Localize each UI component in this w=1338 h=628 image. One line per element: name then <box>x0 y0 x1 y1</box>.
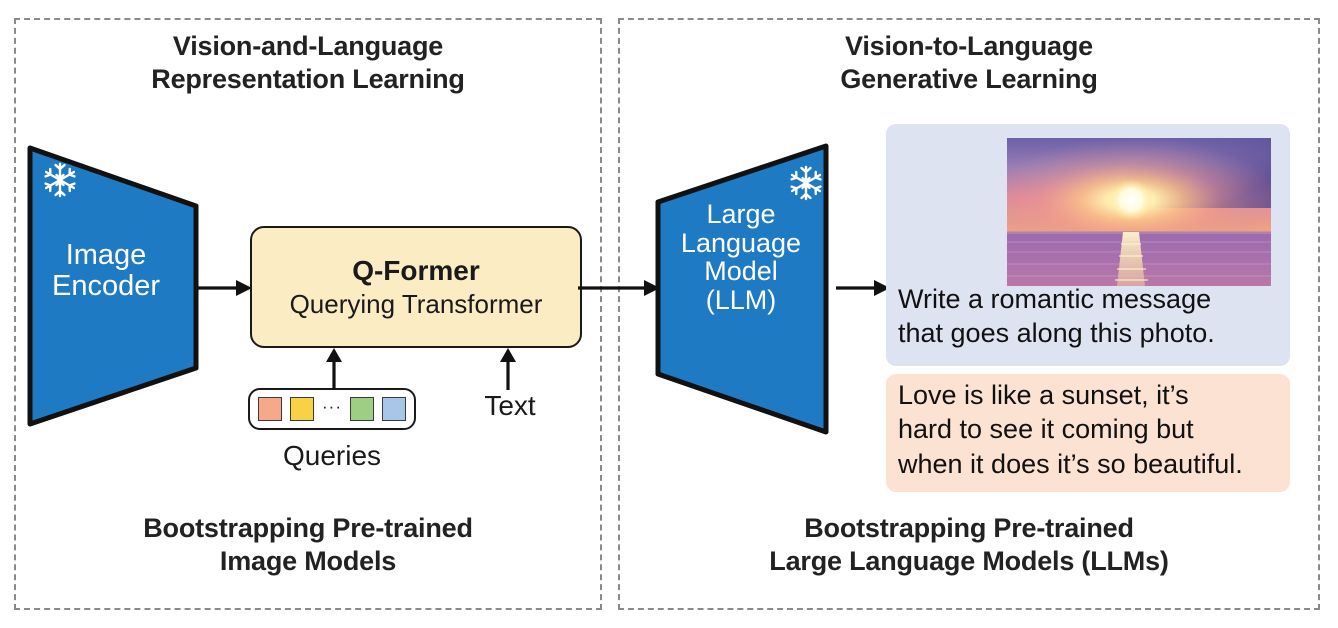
arrow-image-encoder-to-qformer <box>198 276 254 300</box>
queries-label: Queries <box>248 440 416 472</box>
query-chip-salmon <box>258 397 282 421</box>
text-input-label: Text <box>460 390 560 422</box>
qformer-block: Q-Former Querying Transformer <box>250 226 582 348</box>
query-chip-yellow <box>290 397 314 421</box>
qformer-subtitle: Querying Transformer <box>290 289 543 320</box>
arrow-text-to-qformer <box>496 348 520 390</box>
answer-text: Love is like a sunset, it’s hard to see … <box>898 378 1290 481</box>
arrow-queries-to-qformer <box>322 348 346 390</box>
sunset-over-ocean-photo <box>1007 138 1271 286</box>
llm-label: Large Language Model (LLM) <box>652 200 830 314</box>
query-ellipsis: ··· <box>322 398 342 415</box>
left-panel-footer: Bootstrapping Pre-trained Image Models <box>14 512 602 578</box>
qformer-title: Q-Former <box>352 255 480 287</box>
query-chip-blue <box>382 397 406 421</box>
queries-token-box: ··· <box>248 388 416 430</box>
image-encoder-label: Image Encoder <box>26 240 186 301</box>
right-panel-footer: Bootstrapping Pre-trained Large Language… <box>618 512 1320 578</box>
snowflake-icon <box>786 163 826 203</box>
query-chip-green <box>350 397 374 421</box>
right-panel-title: Vision-to-Language Generative Learning <box>618 30 1320 96</box>
prompt-text: Write a romantic message that goes along… <box>898 283 1290 351</box>
left-panel-title: Vision-and-Language Representation Learn… <box>14 30 602 96</box>
arrow-llm-to-output <box>836 276 892 300</box>
diagram-canvas: Vision-and-Language Representation Learn… <box>0 0 1338 628</box>
snowflake-icon <box>40 160 80 200</box>
